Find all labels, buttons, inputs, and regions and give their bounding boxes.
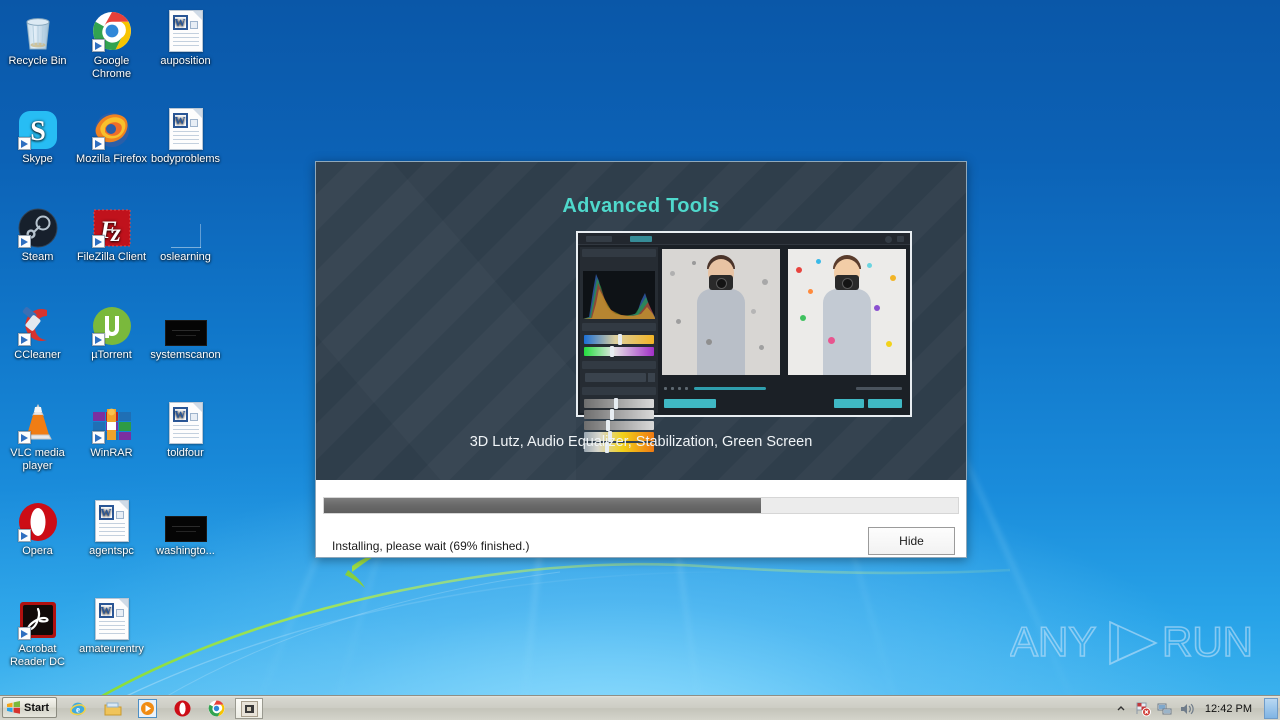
svg-text:e: e: [76, 704, 80, 714]
installer-footer: Installing, please wait (69% finished.) …: [316, 480, 966, 557]
desktop-icon-label: Google Chrome: [74, 55, 149, 80]
start-button-label: Start: [24, 702, 49, 714]
shortcut-overlay-icon: [18, 529, 31, 542]
desktop-icon-label: washingto...: [148, 545, 223, 558]
histogram-graph: [583, 271, 655, 319]
shortcut-overlay-icon: [18, 333, 31, 346]
skype-icon: S: [0, 106, 75, 150]
before-after-previews: [660, 247, 908, 377]
svg-text:S: S: [30, 116, 46, 147]
desktop-icon-label: oslearning: [148, 251, 223, 264]
desktop-icon-label: toldfour: [148, 447, 223, 460]
desktop-icon-winrar[interactable]: WinRAR: [74, 400, 149, 460]
desktop-icon-amateurentry[interactable]: W amateurentry: [74, 596, 149, 656]
shortcut-overlay-icon: [18, 137, 31, 150]
app-titlebar: [578, 233, 910, 245]
desktop-icon-oslearning[interactable]: oslearning: [148, 204, 223, 264]
desktop-icon-skype[interactable]: S Skype: [0, 106, 75, 166]
volume-icon[interactable]: [1179, 701, 1195, 717]
desktop-icon-label: Recycle Bin: [0, 55, 75, 68]
desktop-icon-utorrent[interactable]: µTorrent: [74, 302, 149, 362]
zoom-slider[interactable]: [694, 387, 766, 390]
recycle-bin-icon: [0, 8, 75, 52]
taskbar-opera-icon[interactable]: [172, 699, 192, 718]
network-icon[interactable]: [1157, 701, 1173, 717]
app-bottom-controls: [660, 379, 908, 413]
action-center-flag-icon[interactable]: [1135, 701, 1151, 717]
filezilla-icon: F z: [74, 204, 149, 248]
desktop-icon-label: VLC media player: [0, 447, 75, 472]
shortcut-overlay-icon: [18, 235, 31, 248]
firefox-icon: [74, 106, 149, 150]
after-photo: [788, 249, 906, 375]
show-hidden-icons-chevron-icon[interactable]: [1113, 701, 1129, 717]
desktop-icon-agentspc[interactable]: W agentspc: [74, 498, 149, 558]
desktop-icon-label: WinRAR: [74, 447, 149, 460]
desktop-icon-washington[interactable]: washingto...: [148, 498, 223, 558]
app-screenshot-preview: [576, 231, 912, 417]
taskbar[interactable]: Start e: [0, 695, 1280, 720]
anyrun-watermark: ANY RUN: [1010, 612, 1270, 674]
save-as-preset-button[interactable]: [664, 399, 716, 408]
watermark-text-left: ANY: [1010, 618, 1096, 665]
word-document-icon: W: [148, 400, 223, 444]
desktop-icon-label: FileZilla Client: [74, 251, 149, 264]
installer-status-text: Installing, please wait (69% finished.): [332, 539, 529, 553]
desktop-icon-label: amateurentry: [74, 643, 149, 656]
taskbar-chrome-icon[interactable]: [206, 699, 226, 718]
desktop-icon-label: agentspc: [74, 545, 149, 558]
shortcut-overlay-icon: [92, 39, 105, 52]
taskbar-internet-explorer-icon[interactable]: e: [68, 699, 88, 718]
word-document-icon: W: [148, 106, 223, 150]
cancel-button[interactable]: [868, 399, 902, 408]
taskbar-media-player-icon[interactable]: [137, 699, 157, 718]
utorrent-icon: [74, 302, 149, 346]
desktop-icon-label: auposition: [148, 55, 223, 68]
opera-icon: [0, 498, 75, 542]
taskbar-windows-explorer-icon[interactable]: [103, 699, 123, 718]
banner-caption: 3D Lutz, Audio Equalizer, Stabilization,…: [316, 434, 966, 450]
desktop-icon-label: CCleaner: [0, 349, 75, 362]
start-button[interactable]: Start: [2, 697, 57, 718]
desktop-icon-auposition[interactable]: W auposition: [148, 8, 223, 68]
svg-text:z: z: [110, 220, 121, 247]
windows-logo-icon: [6, 700, 21, 715]
ok-button[interactable]: [834, 399, 864, 408]
installer-dialog[interactable]: Advanced Tools: [315, 161, 967, 558]
taskbar-clock[interactable]: 12:42 PM: [1201, 703, 1256, 715]
app-left-panel: [580, 247, 658, 413]
acrobat-icon: [0, 596, 75, 640]
system-tray[interactable]: 12:42 PM: [1113, 696, 1278, 720]
taskbar-installer-window-button[interactable]: [235, 698, 263, 719]
contrast-slider[interactable]: [584, 421, 654, 430]
desktop-icon-mozilla-firefox[interactable]: Mozilla Firefox: [74, 106, 149, 166]
installer-banner: Advanced Tools: [316, 162, 966, 480]
desktop-icon-label: Steam: [0, 251, 75, 264]
desktop-icon-label: µTorrent: [74, 349, 149, 362]
word-document-icon: W: [148, 8, 223, 52]
word-document-icon: W: [74, 498, 149, 542]
word-document-icon: W: [74, 596, 149, 640]
shortcut-overlay-icon: [92, 333, 105, 346]
desktop-icon-label: Opera: [0, 545, 75, 558]
ccleaner-icon: [0, 302, 75, 346]
desktop-icon-recycle-bin[interactable]: Recycle Bin: [0, 8, 75, 68]
desktop-icon-acrobat-reader-dc[interactable]: Acrobat Reader DC: [0, 596, 75, 668]
black-box-icon: [148, 498, 223, 542]
watermark-text-right: RUN: [1162, 618, 1253, 665]
desktop-icon-vlc-media-player[interactable]: VLC media player: [0, 400, 75, 472]
tint-slider[interactable]: [584, 347, 654, 356]
temperature-slider[interactable]: [584, 335, 654, 344]
progress-bar-fill: [324, 498, 761, 513]
desktop-icon-bodyproblems[interactable]: W bodyproblems: [148, 106, 223, 166]
black-box-icon: [148, 302, 223, 346]
shortcut-overlay-icon: [18, 627, 31, 640]
desktop-icon-label: Acrobat Reader DC: [0, 643, 75, 668]
vlc-cone-icon: [0, 400, 75, 444]
progress-bar: [323, 497, 959, 514]
saturation-slider[interactable]: [584, 399, 654, 408]
desktop-icon-ccleaner[interactable]: CCleaner: [0, 302, 75, 362]
desktop-icon-label: bodyproblems: [148, 153, 223, 166]
winrar-icon: [74, 400, 149, 444]
banner-title: Advanced Tools: [316, 195, 966, 218]
steam-icon: [0, 204, 75, 248]
desktop-icon-label: systemscanon: [148, 349, 223, 362]
desktop-icon-google-chrome[interactable]: Google Chrome: [74, 8, 149, 80]
before-photo: [662, 249, 780, 375]
blank-document-icon: [148, 204, 223, 248]
shortcut-overlay-icon: [18, 431, 31, 444]
desktop-icon-steam[interactable]: Steam: [0, 204, 75, 264]
shortcut-overlay-icon: [92, 235, 105, 248]
shortcut-overlay-icon: [92, 431, 105, 444]
desktop-icon-label: Skype: [0, 153, 75, 166]
shortcut-overlay-icon: [92, 137, 105, 150]
chrome-icon: [74, 8, 149, 52]
profile-dropdown[interactable]: [585, 373, 646, 382]
desktop-icon-opera[interactable]: Opera: [0, 498, 75, 558]
desktop-icon-toldfour[interactable]: W toldfour: [148, 400, 223, 460]
hide-button[interactable]: Hide: [868, 527, 955, 555]
desktop-icon-filezilla-client[interactable]: F z FileZilla Client: [74, 204, 149, 264]
desktop-icon-systemscanon[interactable]: systemscanon: [148, 302, 223, 362]
profile-options-button[interactable]: [648, 373, 655, 382]
brightness-slider[interactable]: [584, 410, 654, 419]
desktop-icon-label: Mozilla Firefox: [74, 153, 149, 166]
show-desktop-button[interactable]: [1264, 698, 1278, 719]
